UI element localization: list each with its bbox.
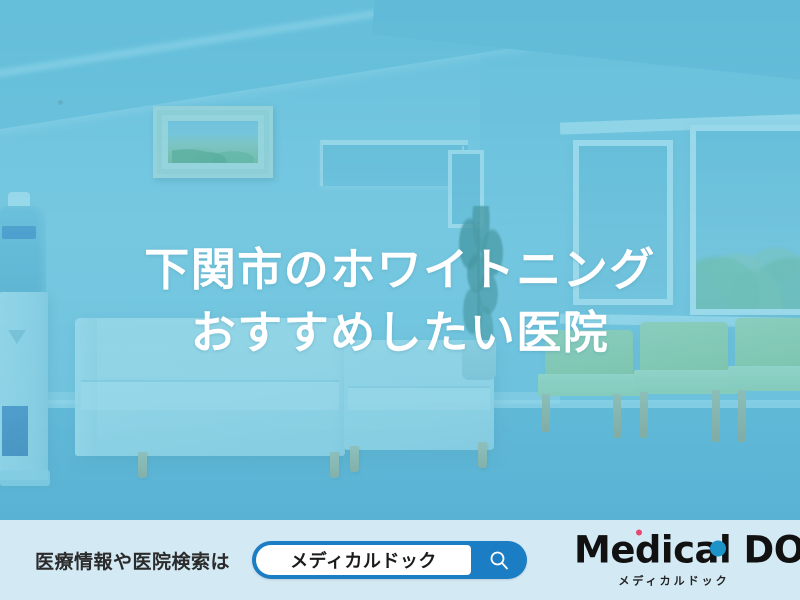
search-icon	[488, 549, 510, 571]
search-box[interactable]: メディカルドック	[252, 541, 527, 579]
footer-bar: 医療情報や医院検索は メディカルドック Medical DOC メディカルドック	[0, 520, 800, 600]
footer-lead-text: 医療情報や医院検索は	[35, 547, 230, 574]
brand-logo[interactable]: Medical DOC メディカルドック	[574, 532, 774, 589]
brand-o-mark-icon	[710, 541, 726, 557]
page-title-line-1: 下関市のホワイトニング	[144, 243, 656, 296]
page-title: 下関市のホワイトニング おすすめしたい医院	[0, 238, 800, 364]
search-button[interactable]	[471, 541, 527, 579]
brand-subtitle: メディカルドック	[574, 573, 774, 589]
brand-i-dot-icon	[636, 530, 642, 536]
brand-name: Medical DOC	[574, 532, 800, 569]
page-title-line-2: おすすめしたい医院	[0, 301, 800, 364]
search-input[interactable]: メディカルドック	[256, 545, 471, 575]
hero-banner: 下関市のホワイトニング おすすめしたい医院 医療情報や医院検索は メディカルドッ…	[0, 0, 800, 600]
